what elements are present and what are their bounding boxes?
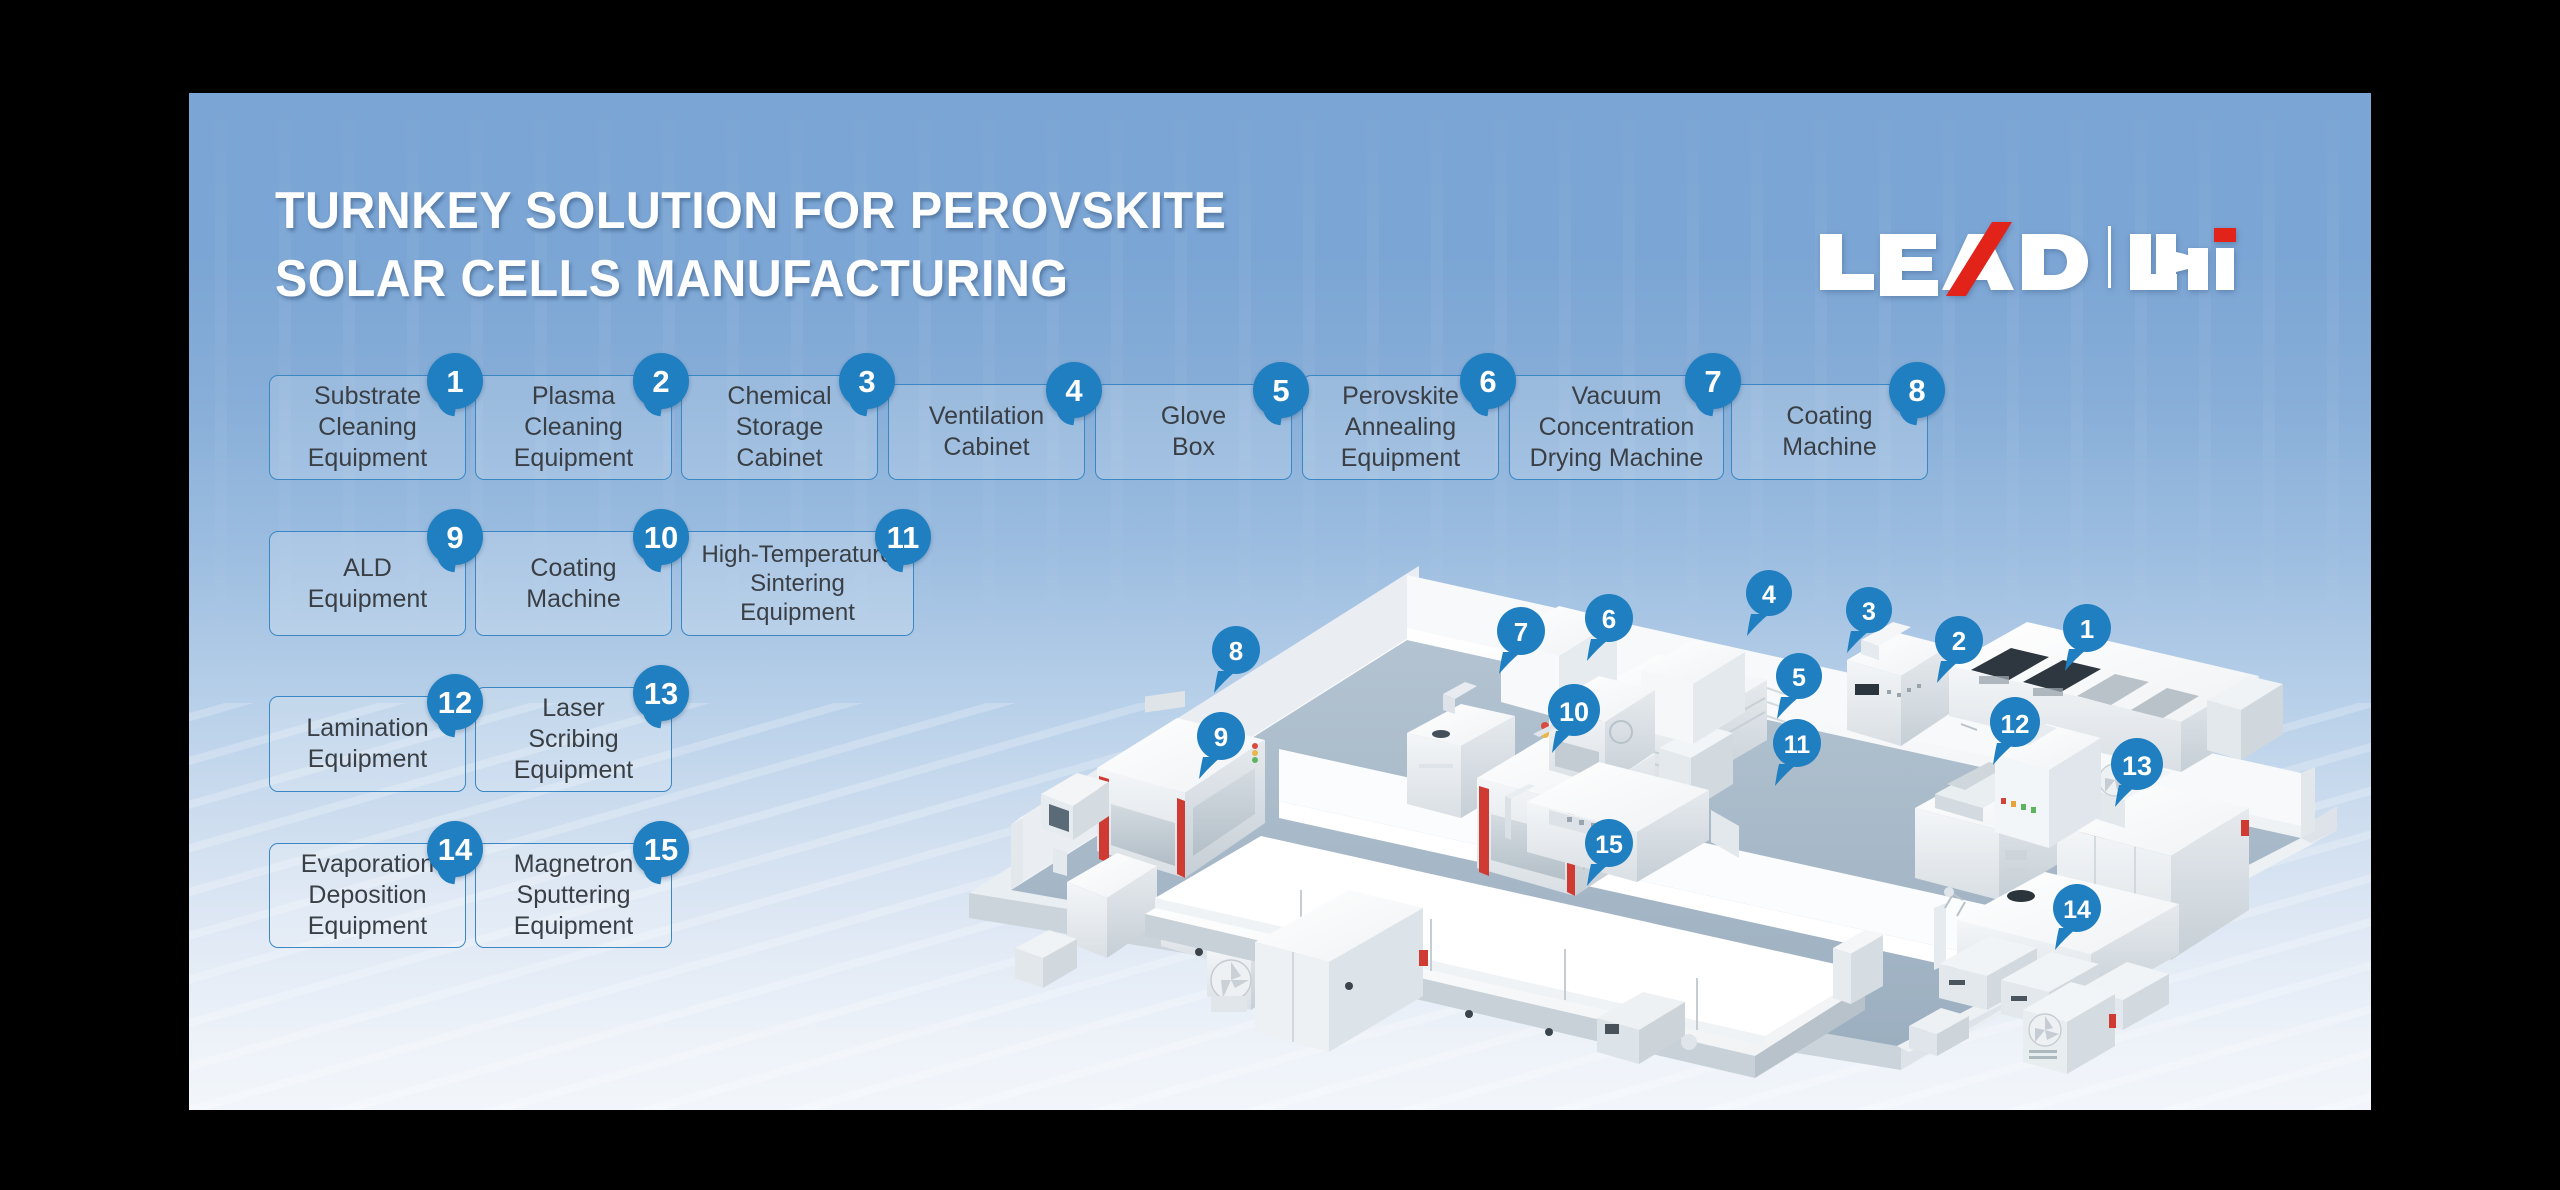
- svg-text:12: 12: [2001, 709, 2030, 739]
- legend-item-15[interactable]: 15 Magnetron Sputtering Equipment: [475, 843, 672, 948]
- legend-item-7[interactable]: 7 Vacuum Concentration Drying Machine: [1509, 375, 1724, 480]
- legend-item-14[interactable]: 14 Evaporation Deposition Equipment: [269, 843, 466, 948]
- logo-red-accent: [2214, 228, 2236, 242]
- legend-item-4[interactable]: 4 Ventilation Cabinet: [888, 384, 1085, 480]
- svg-text:1: 1: [2080, 614, 2094, 644]
- svg-text:2: 2: [1952, 626, 1966, 656]
- legend-item-13[interactable]: 13 Laser Scribing Equipment: [475, 687, 672, 792]
- svg-text:5: 5: [1792, 664, 1806, 692]
- legend-badge-12: 12: [427, 674, 483, 730]
- legend-label-15: Magnetron Sputtering Equipment: [514, 849, 634, 942]
- legend-item-10[interactable]: 10 Coating Machine: [475, 531, 672, 636]
- legend-badge-15: 15: [633, 821, 689, 877]
- brand-logo: [1816, 218, 2236, 296]
- legend-item-3[interactable]: 3 Chemical Storage Cabinet: [681, 375, 878, 480]
- legend-label-13: Laser Scribing Equipment: [514, 693, 634, 786]
- legend-label-3: Chemical Storage Cabinet: [727, 381, 831, 474]
- legend-badge-4: 4: [1046, 362, 1102, 418]
- legend-item-5[interactable]: 5 Glove Box: [1095, 384, 1292, 480]
- legend-label-7: Vacuum Concentration Drying Machine: [1530, 381, 1704, 474]
- legend-label-10: Coating Machine: [526, 553, 621, 615]
- legend-item-11[interactable]: 11 High-Temperature Sintering Equipment: [681, 531, 914, 636]
- svg-text:3: 3: [1862, 598, 1876, 626]
- legend-item-2[interactable]: 2 Plasma Cleaning Equipment: [475, 375, 672, 480]
- legend-badge-5: 5: [1253, 362, 1309, 418]
- legend-item-6[interactable]: 6 Perovskite Annealing Equipment: [1302, 375, 1499, 480]
- legend-badge-13: 13: [633, 665, 689, 721]
- legend-item-12[interactable]: 12 Lamination Equipment: [269, 696, 466, 792]
- svg-text:9: 9: [1214, 722, 1228, 752]
- logo-divider: [2108, 226, 2111, 288]
- legend-badge-6: 6: [1460, 353, 1516, 409]
- legend-badge-7: 7: [1685, 353, 1741, 409]
- legend-label-5: Glove Box: [1161, 401, 1226, 463]
- legend-badge-3: 3: [839, 353, 895, 409]
- svg-text:7: 7: [1514, 617, 1528, 647]
- legend-item-8[interactable]: 8 Coating Machine: [1731, 384, 1928, 480]
- svg-text:14: 14: [2063, 896, 2091, 924]
- legend-label-11: High-Temperature Sintering Equipment: [701, 540, 893, 627]
- legend-label-8: Coating Machine: [1782, 401, 1877, 463]
- legend-item-1[interactable]: 1 Substrate Cleaning Equipment: [269, 375, 466, 480]
- legend-badge-14: 14: [427, 821, 483, 877]
- floor-marker-4: 4: [1746, 570, 1792, 636]
- legend-label-4: Ventilation Cabinet: [929, 401, 1044, 463]
- legend-label-2: Plasma Cleaning Equipment: [514, 381, 634, 474]
- svg-text:8: 8: [1229, 636, 1243, 666]
- slide-canvas: TURNKEY SOLUTION FOR PEROVSKITE SOLAR CE…: [189, 93, 2371, 1110]
- legend-label-1: Substrate Cleaning Equipment: [308, 381, 428, 474]
- legend-label-12: Lamination Equipment: [306, 713, 428, 775]
- legend-label-6: Perovskite Annealing Equipment: [1341, 381, 1461, 474]
- legend-label-14: Evaporation Deposition Equipment: [301, 849, 434, 942]
- legend-item-9[interactable]: 9 ALD Equipment: [269, 531, 466, 636]
- svg-text:13: 13: [2122, 751, 2152, 781]
- legend-badge-11: 11: [875, 509, 931, 565]
- svg-text:11: 11: [1784, 731, 1811, 759]
- legend-badge-2: 2: [633, 353, 689, 409]
- legend-badge-8: 8: [1889, 362, 1945, 418]
- legend-badge-9: 9: [427, 509, 483, 565]
- page-title: TURNKEY SOLUTION FOR PEROVSKITE SOLAR CE…: [275, 177, 1226, 313]
- legend-row-1: 1 Substrate Cleaning Equipment 2 Plasma …: [269, 355, 2269, 480]
- legend-badge-10: 10: [633, 509, 689, 565]
- legend-badge-1: 1: [427, 353, 483, 409]
- svg-text:10: 10: [1559, 697, 1589, 727]
- svg-text:4: 4: [1762, 581, 1776, 609]
- factory-floorplan-3d: 8 9 7 6 10 4 3 5 11 2 1 12 13 14 15: [949, 518, 2349, 1078]
- svg-text:15: 15: [1595, 831, 1623, 859]
- lhi-wordmark-icon: [2130, 234, 2234, 290]
- legend-label-9: ALD Equipment: [308, 553, 428, 615]
- svg-text:6: 6: [1602, 604, 1616, 634]
